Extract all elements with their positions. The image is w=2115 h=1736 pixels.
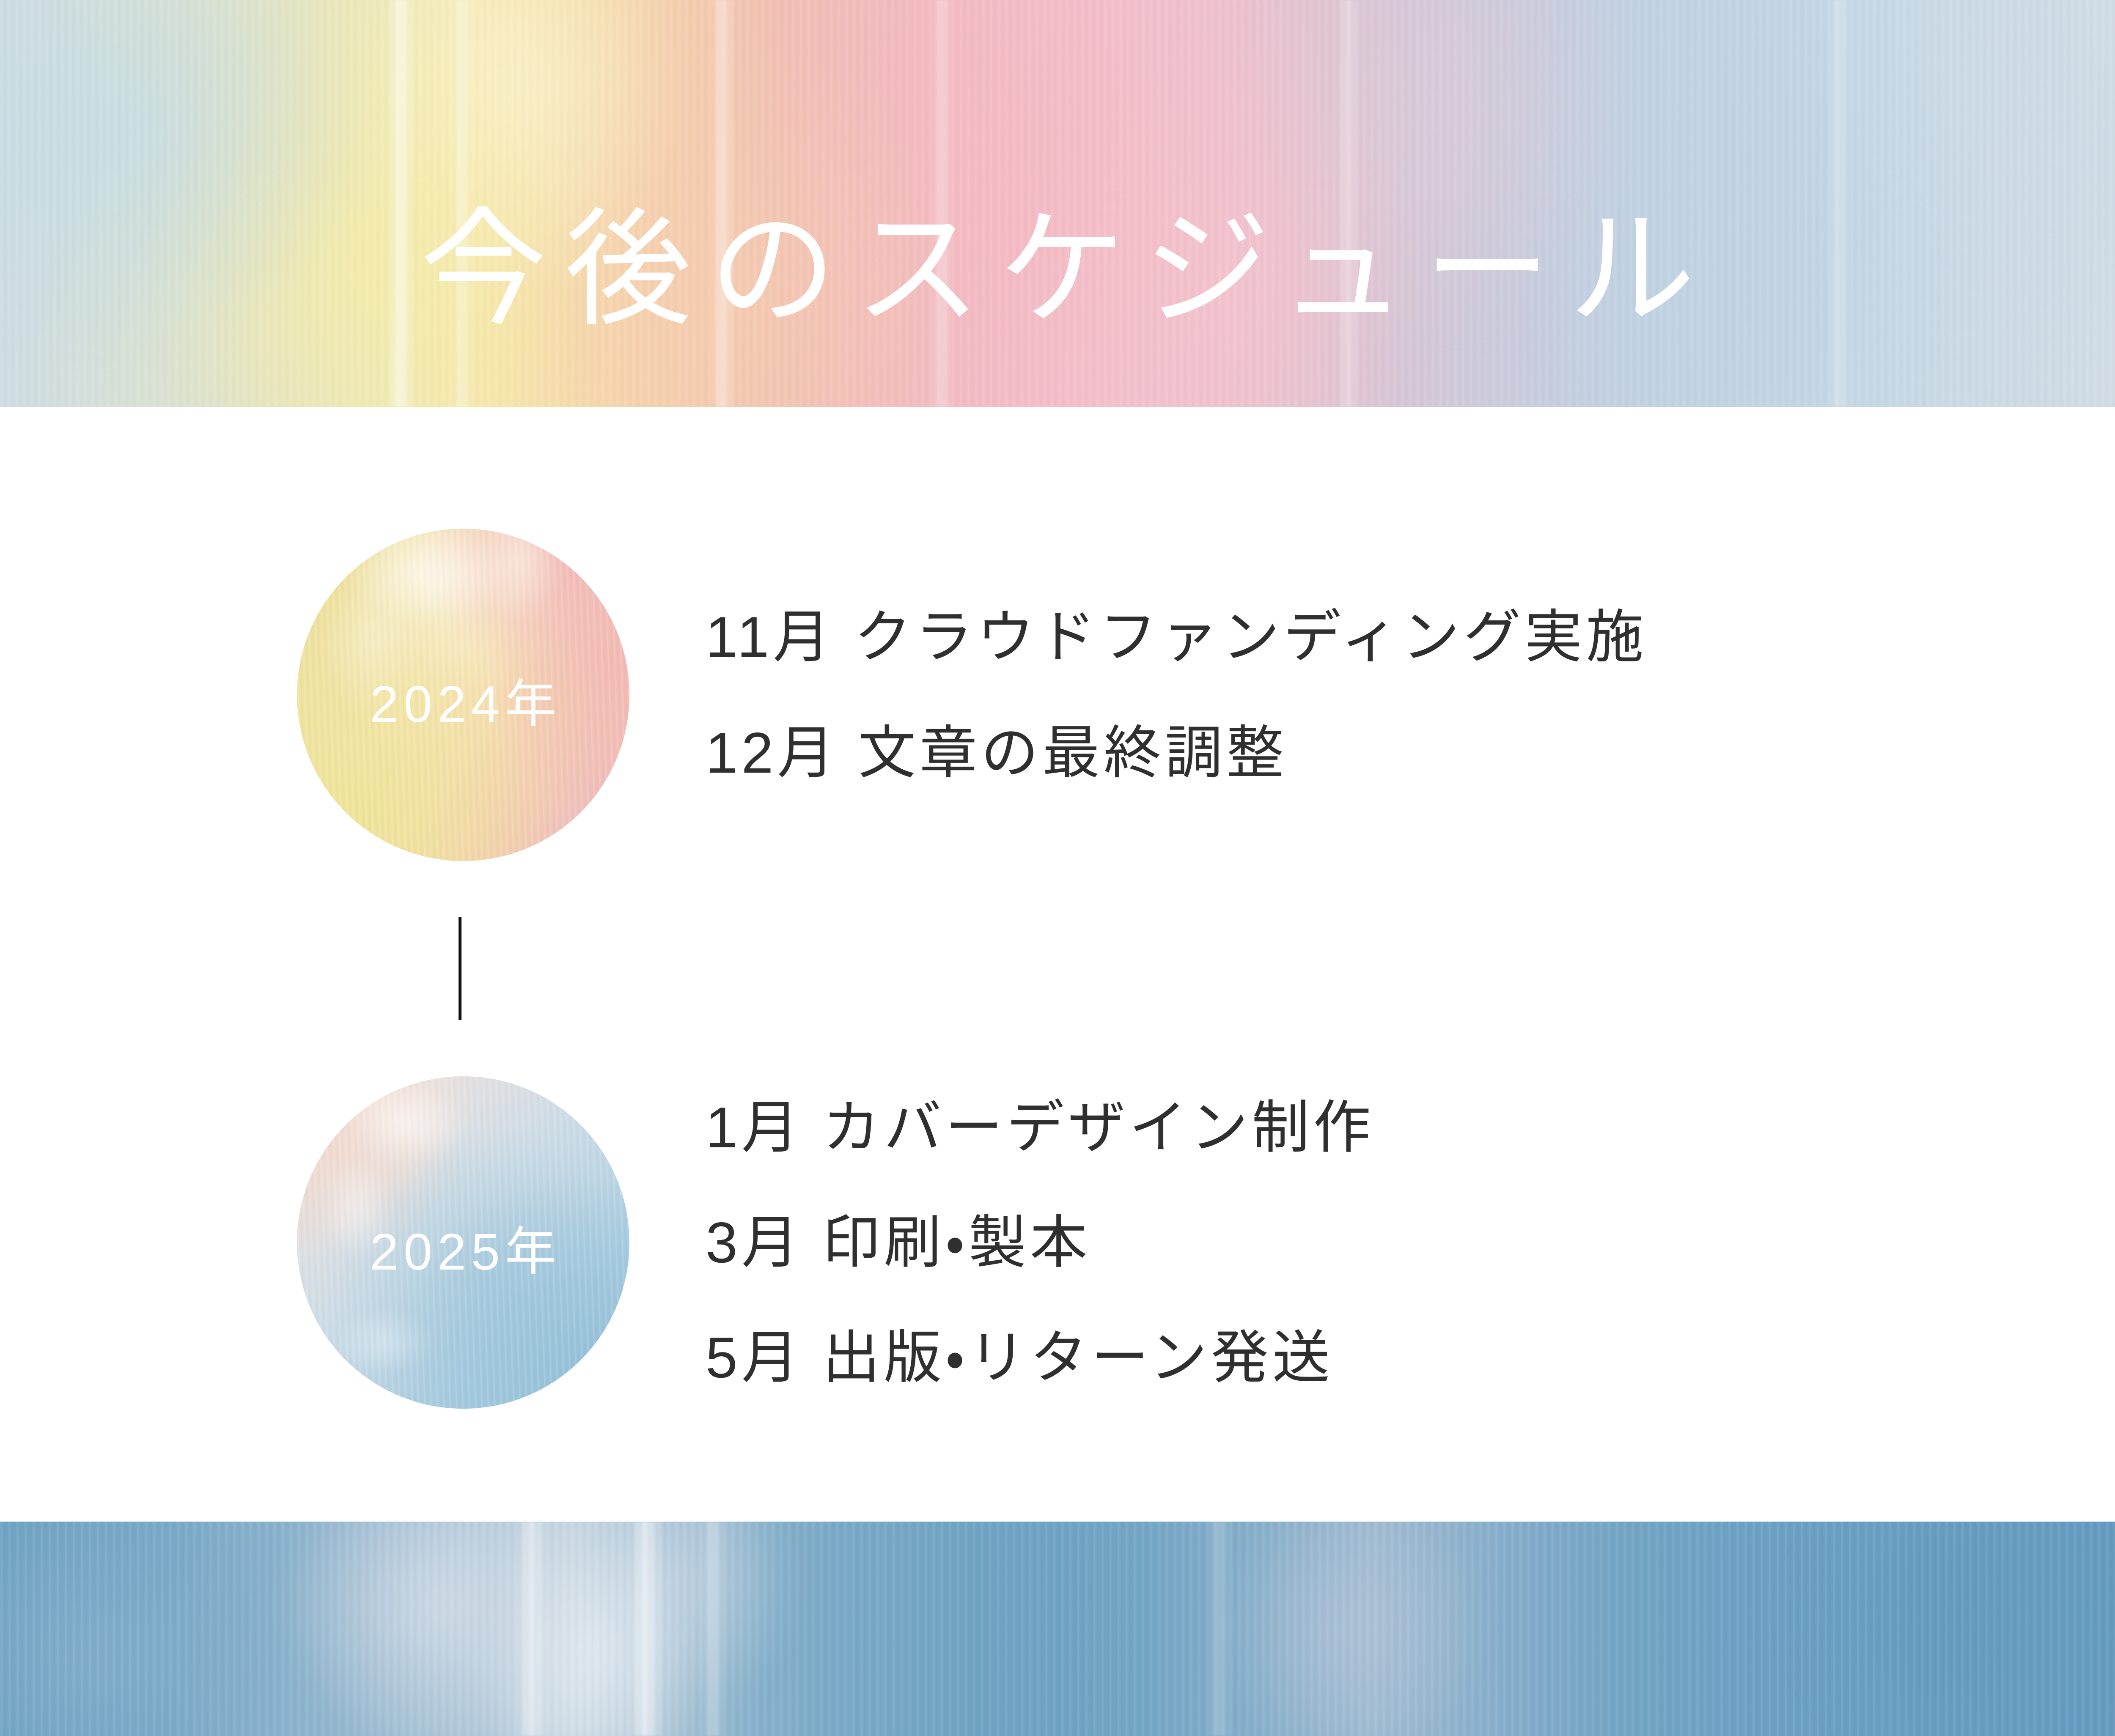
timeline-connector-line (459, 917, 461, 1020)
timeline-group-2024: 2024年 11月 クラウドファンディング実施 12月 文章の最終調整 (297, 529, 1647, 861)
year-badge-2024[interactable]: 2024年 (297, 529, 629, 861)
event-item: 1月 カバーデザイン制作 (706, 1099, 1374, 1156)
year-badge-label-2025: 2025年 (365, 1226, 561, 1278)
footer-watercolor-band (0, 1522, 2115, 1736)
year-badge-label-2024: 2024年 (365, 678, 561, 730)
timeline-body: 2024年 11月 クラウドファンディング実施 12月 文章の最終調整 2025… (0, 407, 2115, 1522)
footer-paint-veins (0, 1522, 2115, 1736)
page-title: 今後のスケジュール (0, 206, 2115, 333)
year-badge-2025[interactable]: 2025年 (297, 1076, 629, 1409)
event-item: 3月 印刷・製本 (706, 1214, 1374, 1271)
event-item: 11月 クラウドファンディング実施 (706, 608, 1647, 666)
schedule-slide: 今後のスケジュール 2024年 11月 クラウドファンディング実施 12月 文章… (0, 0, 2115, 1736)
event-item: 12月 文章の最終調整 (706, 724, 1647, 782)
event-item: 5月 出版・リターン発送 (706, 1329, 1374, 1386)
event-list-2025: 1月 カバーデザイン制作 3月 印刷・製本 5月 出版・リターン発送 (706, 1099, 1374, 1386)
timeline-group-2025: 2025年 1月 カバーデザイン制作 3月 印刷・製本 5月 出版・リターン発送 (297, 1076, 1374, 1409)
event-list-2024: 11月 クラウドファンディング実施 12月 文章の最終調整 (706, 608, 1647, 782)
